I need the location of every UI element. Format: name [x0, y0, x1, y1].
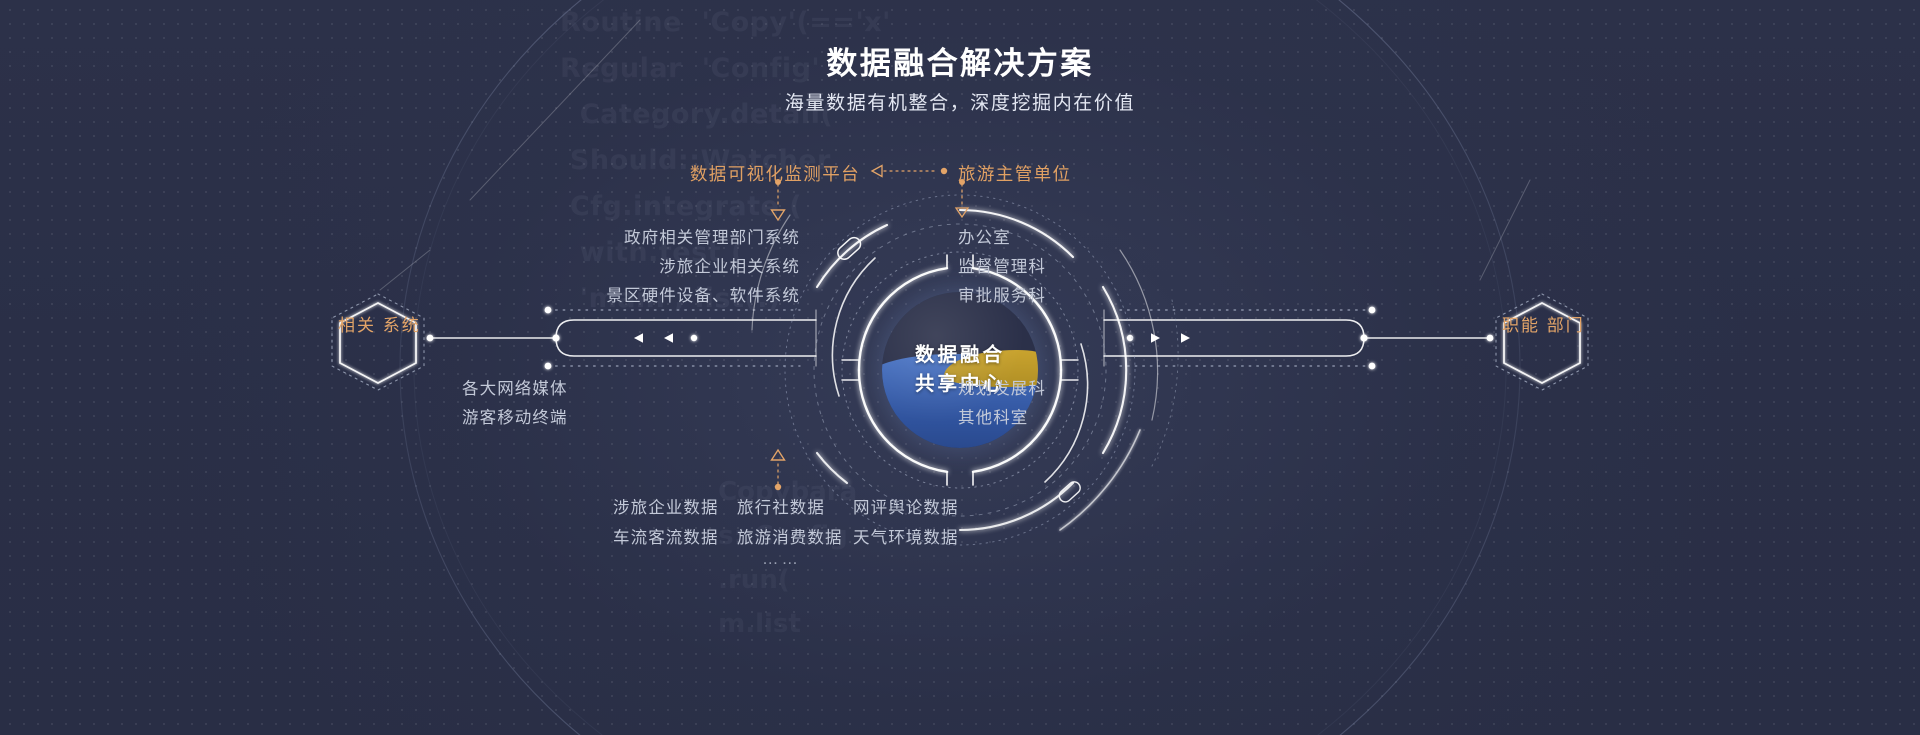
node-tourism-authority[interactable]: 旅游主管单位: [958, 161, 1071, 186]
hex-label-left-line2: 系统: [383, 316, 421, 335]
left-lower-item-0[interactable]: 各大网络媒体: [462, 375, 568, 399]
hex-label-left[interactable]: 相关 系统: [338, 313, 418, 338]
right-item-0[interactable]: 办公室: [958, 224, 1011, 248]
hex-label-right-line1: 职能: [1502, 316, 1540, 335]
hexagon-outline-icon: [332, 294, 424, 390]
bottom-item-1-0[interactable]: 车流客流数据: [613, 524, 719, 548]
bottom-item-1-1[interactable]: 旅游消费数据: [737, 524, 843, 548]
page-subtitle: 海量数据有机整合，深度挖掘内在价值: [0, 88, 1920, 115]
hex-label-right[interactable]: 职能 部门: [1502, 313, 1582, 338]
bottom-item-0-0[interactable]: 涉旅企业数据: [613, 494, 719, 518]
arrow-left-icon-top: [872, 166, 882, 177]
hex-label-right-line2: 部门: [1547, 316, 1585, 335]
triangle-down-icon: [772, 210, 785, 220]
hex-label-left-line1: 相关: [338, 316, 376, 335]
page-title: 数据融合解决方案: [0, 38, 1920, 83]
left-connector-group: [427, 307, 816, 370]
bottom-item-0-2[interactable]: 网评舆论数据: [853, 494, 959, 518]
bottom-feed-line: [772, 450, 785, 490]
node-visualization-platform[interactable]: 数据可视化监测平台: [690, 161, 860, 186]
hexagon-outline-icon-right: [1496, 294, 1588, 390]
right-item-1[interactable]: 监督管理科: [958, 253, 1046, 277]
right-connector-group: [1104, 307, 1493, 370]
right-lower-item-0[interactable]: 规划发展科: [958, 375, 1046, 399]
triangle-up-icon: [772, 450, 785, 460]
bottom-ellipsis: ……: [762, 550, 801, 569]
top-horizontal-arrow: [872, 166, 947, 177]
bottom-item-0-1[interactable]: 旅行社数据: [737, 494, 825, 518]
bottom-item-1-2[interactable]: 天气环境数据: [853, 524, 959, 548]
ring-capsule-marker-2: [1057, 479, 1083, 504]
right-lower-item-1[interactable]: 其他科室: [958, 404, 1028, 428]
solution-diagram-canvas: Routine 'Copy'(=='x' Regular 'Config' Ca…: [0, 0, 1920, 735]
center-label-line1: 数据融合: [915, 341, 1005, 370]
left-item-1[interactable]: 涉旅企业相关系统: [659, 253, 800, 277]
right-item-2[interactable]: 审批服务科: [958, 282, 1046, 306]
left-item-2[interactable]: 景区硬件设备、软件系统: [606, 282, 800, 306]
left-item-0[interactable]: 政府相关管理部门系统: [624, 224, 800, 248]
left-lower-item-1[interactable]: 游客移动终端: [462, 404, 568, 428]
